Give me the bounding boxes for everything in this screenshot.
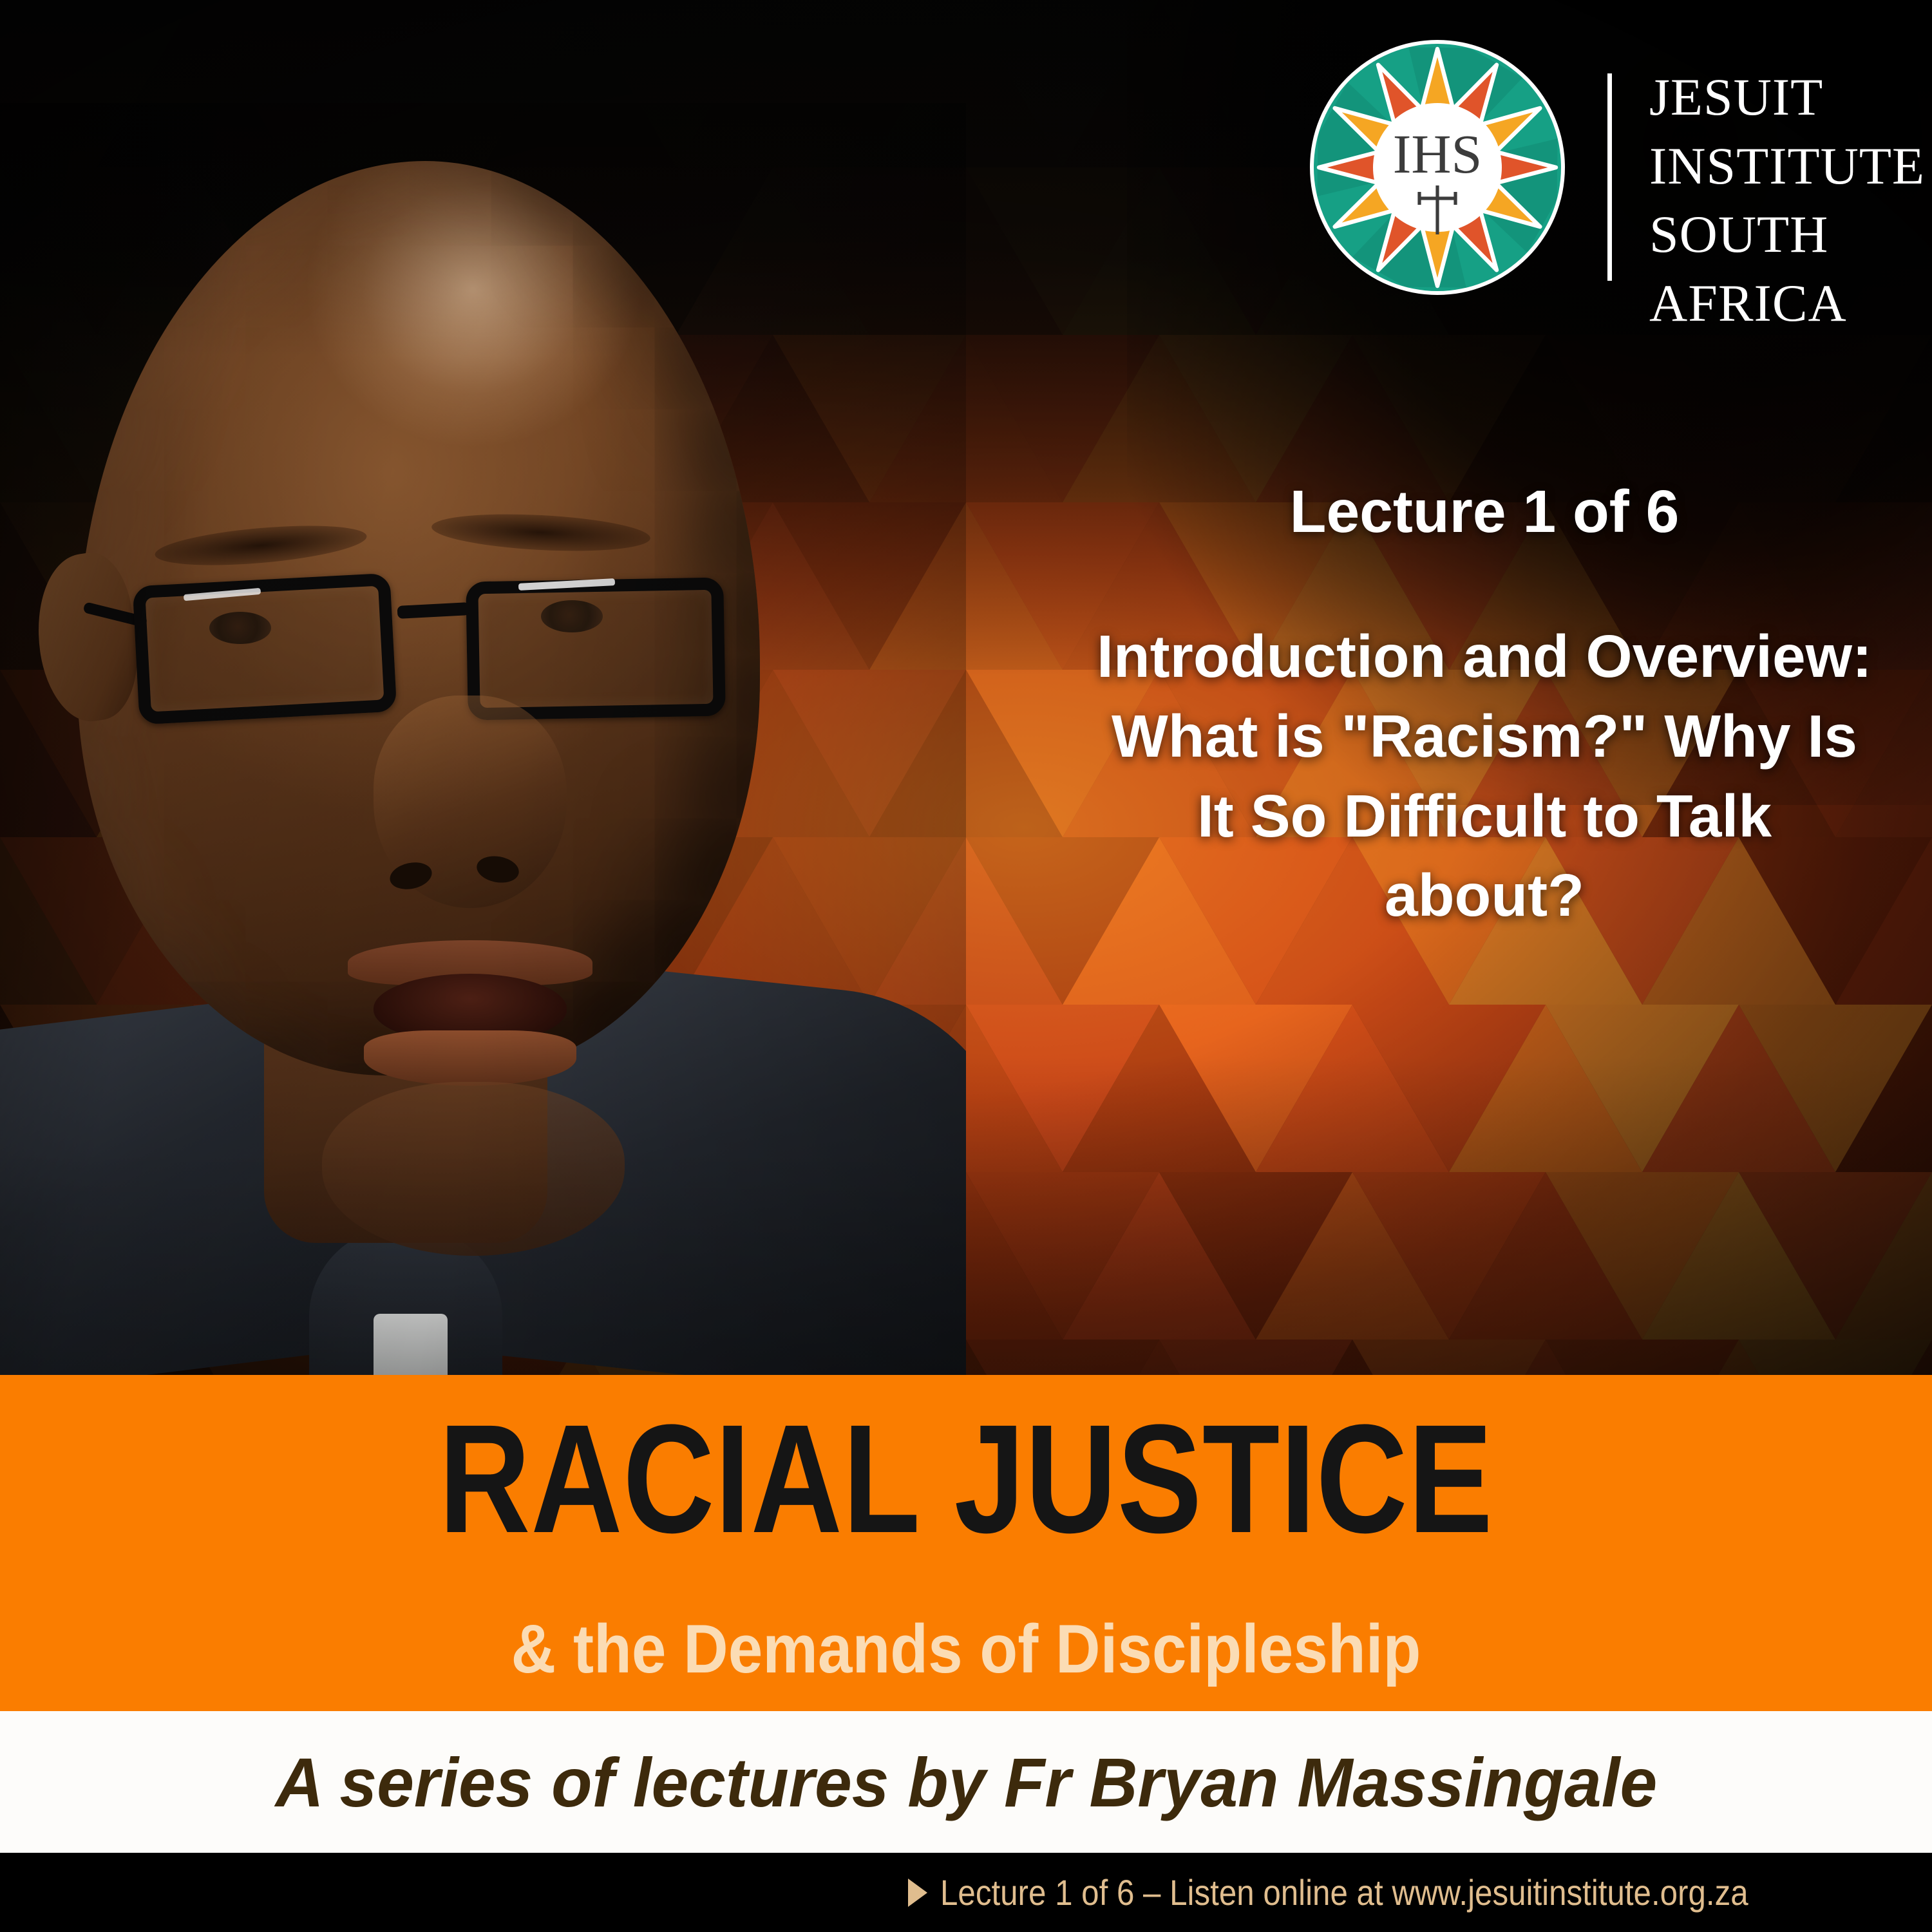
background-triangle	[1835, 1005, 1932, 1172]
org-line-2: INSTITUTE	[1649, 132, 1925, 201]
background-triangle	[1835, 1340, 1932, 1375]
eyeglasses-lens-right	[466, 578, 726, 721]
poster-root: IHS JESUIT INSTITUTE SOUTH AFRICA Lectur…	[0, 0, 1932, 1932]
svg-text:IHS: IHS	[1393, 123, 1482, 185]
clerical-collar-tab	[374, 1314, 448, 1375]
org-line-1: JESUIT	[1649, 63, 1925, 132]
eyeglasses-bridge	[397, 602, 470, 619]
portrait-lower-lip	[364, 1030, 576, 1086]
logo-divider-icon	[1607, 73, 1612, 281]
series-subtitle: & the Demands of Discipleship	[97, 1615, 1835, 1683]
byline-band: A series of lectures by Fr Bryan Massing…	[0, 1711, 1932, 1853]
footer-row[interactable]: Lecture 1 of 6 – Listen online at www.je…	[908, 1875, 1859, 1911]
org-line-3: SOUTH	[1649, 200, 1925, 269]
footer-band: Lecture 1 of 6 – Listen online at www.je…	[0, 1853, 1932, 1932]
background-triangle	[1835, 1172, 1932, 1340]
byline-text: A series of lectures by Fr Bryan Massing…	[275, 1742, 1656, 1823]
portrait-chin	[322, 1082, 625, 1256]
lecture-title-heading: Introduction and Overview: What is "Raci…	[1095, 617, 1874, 936]
speaker-portrait	[0, 103, 966, 1375]
footer-listen-online-text[interactable]: Lecture 1 of 6 – Listen online at www.je…	[940, 1875, 1748, 1911]
lecture-number-label: Lecture 1 of 6	[1095, 478, 1874, 545]
lecture-text-block: Lecture 1 of 6 Introduction and Overview…	[1095, 478, 1874, 936]
brand-lockup[interactable]: IHS JESUIT INSTITUTE SOUTH AFRICA	[1309, 39, 1925, 337]
play-triangle-icon	[908, 1879, 927, 1907]
series-title-banner: RACIAL JUSTICE & the Demands of Disciple…	[0, 1375, 1932, 1711]
org-line-4: AFRICA	[1649, 269, 1925, 338]
organisation-name: JESUIT INSTITUTE SOUTH AFRICA	[1649, 63, 1925, 337]
series-title: RACIAL JUSTICE	[174, 1405, 1758, 1553]
background-triangle	[1835, 335, 1932, 502]
ihs-sunburst-logo-icon[interactable]: IHS	[1309, 39, 1566, 296]
eyeglasses-lens-left	[133, 573, 397, 725]
